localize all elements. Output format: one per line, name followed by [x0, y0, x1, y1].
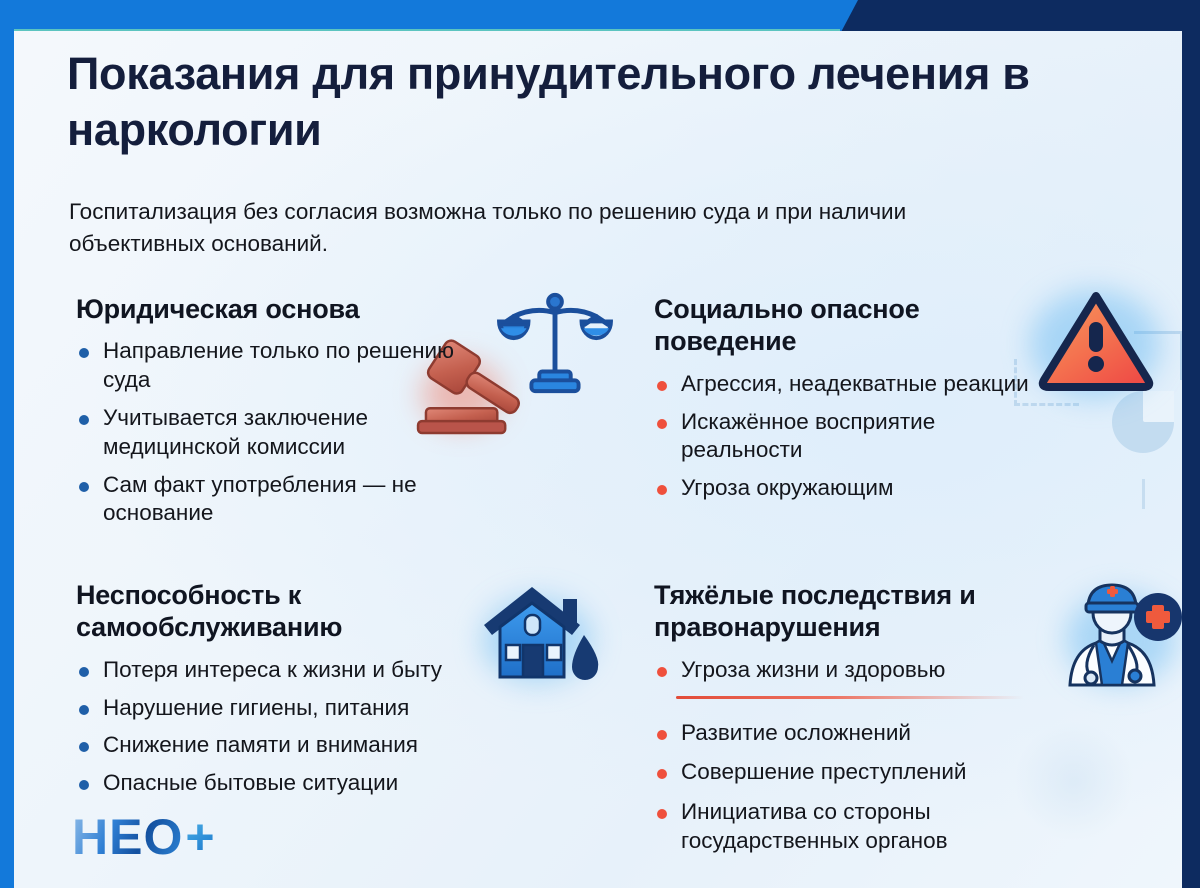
section-heading-social-danger: Социально опасное поведение — [654, 293, 1054, 358]
section-heading-selfcare: Неспособность к самообслуживанию — [76, 579, 546, 644]
frame-navy-corner-wedge — [840, 0, 1200, 34]
list-item: Опасные бытовые ситуации — [76, 769, 546, 798]
list-item: Сам факт употребления — не основание — [76, 471, 496, 529]
brand-logo-plus-icon: + — [185, 812, 214, 862]
list-item: Развитие осложнений — [654, 719, 1074, 748]
list-item: Учитывается заключение медицинской комис… — [76, 404, 496, 462]
brand-logo: НЕО + — [72, 812, 215, 862]
list-item: Инициатива со стороны государственных ор… — [654, 798, 1074, 856]
section-legal: Юридическая основа Направление только по… — [76, 293, 496, 537]
section-severe-consequences: Тяжёлые последствия и правонарушения Угр… — [654, 579, 1074, 867]
page-subtitle: Госпитализация без согласия возможна тол… — [69, 196, 1019, 260]
list-item-highlight: Угроза жизни и здоровью — [654, 656, 1074, 685]
bullet-list-selfcare: Потеря интереса к жизни и быту Нарушение… — [76, 656, 546, 798]
list-item: Потеря интереса к жизни и быту — [76, 656, 546, 685]
red-divider — [676, 696, 1024, 699]
section-social-danger: Социально опасное поведение Агрессия, не… — [654, 293, 1054, 512]
frame-navy-right-border — [1182, 0, 1200, 888]
bullet-list-severe-consequences: Развитие осложнений Совершение преступле… — [654, 719, 1074, 856]
warning-triangle-icon — [1036, 286, 1156, 394]
list-item: Агрессия, неадекватные реакции — [654, 370, 1054, 399]
list-item: Направление только по решению суда — [76, 337, 496, 395]
list-item: Угроза окружающим — [654, 474, 1054, 503]
doctor-icon — [1062, 581, 1182, 687]
list-item: Снижение памяти и внимания — [76, 731, 546, 760]
infographic-canvas: Показания для принудительного лечения в … — [0, 0, 1200, 888]
page-title: Показания для принудительного лечения в … — [67, 46, 1047, 159]
pie-chart-decoration — [1112, 391, 1174, 453]
bullet-list-severe-highlight: Угроза жизни и здоровью — [654, 656, 1074, 685]
brand-logo-wordmark: НЕО — [72, 812, 183, 862]
list-item: Искажённое восприятие реальности — [654, 408, 1054, 466]
tick-mark-decoration — [1142, 479, 1145, 509]
section-selfcare: Неспособность к самообслуживанию Потеря … — [76, 579, 546, 807]
content-card: Показания для принудительного лечения в … — [14, 31, 1182, 888]
bullet-list-social-danger: Агрессия, неадекватные реакции Искажённо… — [654, 370, 1054, 503]
section-heading-severe-consequences: Тяжёлые последствия и правонарушения — [654, 579, 1074, 644]
list-item: Нарушение гигиены, питания — [76, 694, 546, 723]
list-item: Совершение преступлений — [654, 758, 1074, 787]
section-heading-legal: Юридическая основа — [76, 293, 496, 325]
medical-cross-icon — [1134, 593, 1182, 641]
water-drop-icon — [572, 635, 598, 680]
bullet-list-legal: Направление только по решению суда Учиты… — [76, 337, 496, 528]
scales-of-justice-icon — [496, 289, 614, 399]
corner-bracket-decoration — [1134, 331, 1182, 380]
